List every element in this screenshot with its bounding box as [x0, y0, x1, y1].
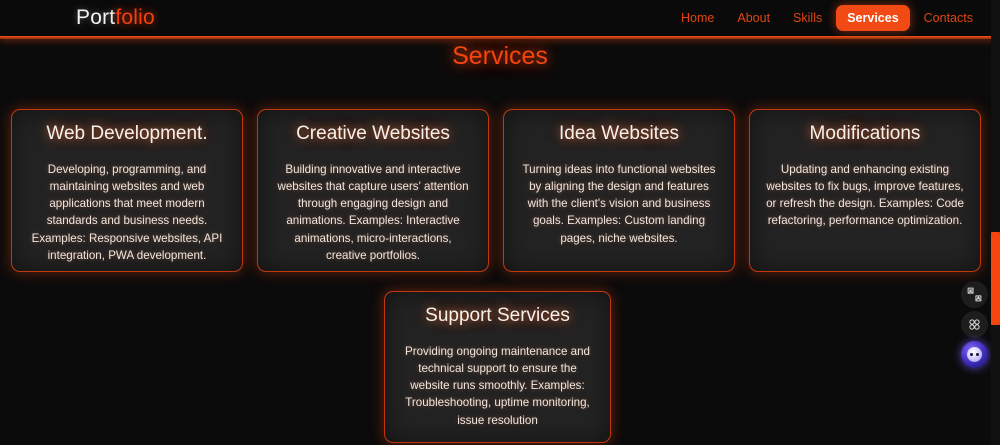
service-card-description: Developing, programming, and maintaining…: [28, 161, 226, 264]
service-card-title: Support Services: [401, 306, 594, 327]
page-scrollbar-thumb[interactable]: [991, 232, 1000, 325]
nav-item-home[interactable]: Home: [672, 6, 723, 30]
apps-grid-button[interactable]: [961, 311, 988, 338]
service-card-description: Building innovative and interactive webs…: [274, 161, 472, 264]
site-logo[interactable]: Portfolio: [76, 6, 155, 30]
service-card-title: Web Development.: [28, 124, 226, 145]
ai-bot-icon: [967, 347, 982, 362]
service-card[interactable]: Modifications Updating and enhancing exi…: [749, 109, 981, 272]
service-card-title: Idea Websites: [520, 124, 718, 145]
service-card-description: Turning ideas into functional websites b…: [520, 161, 718, 247]
service-card-description: Updating and enhancing existing websites…: [766, 161, 964, 230]
service-card-title: Creative Websites: [274, 124, 472, 145]
ai-bot-eye-right: [976, 353, 979, 356]
ai-bot-eye-left: [970, 353, 973, 356]
nav-item-skills[interactable]: Skills: [784, 6, 831, 30]
logo-text-accent: folio: [115, 6, 155, 29]
floating-widget-stack: [961, 281, 991, 368]
services-page: Portfolio Home About Skills Services Con…: [0, 0, 1000, 445]
nav-item-contacts[interactable]: Contacts: [915, 6, 982, 30]
translate-button[interactable]: [961, 281, 988, 308]
apps-grid-icon: [966, 316, 983, 333]
service-card-title: Modifications: [766, 124, 964, 145]
nav-item-services[interactable]: Services: [836, 5, 909, 31]
logo-text-primary: Port: [76, 6, 115, 29]
service-card[interactable]: Creative Websites Building innovative an…: [257, 109, 489, 272]
ai-assistant-button[interactable]: [961, 341, 988, 368]
service-card[interactable]: Idea Websites Turning ideas into functio…: [503, 109, 735, 272]
translate-icon: [966, 286, 983, 303]
main-navigation: Home About Skills Services Contacts: [672, 5, 982, 31]
page-title: Services: [0, 42, 1000, 71]
service-card[interactable]: Web Development. Developing, programming…: [11, 109, 243, 272]
page-scrollbar-track[interactable]: [991, 0, 1000, 445]
nav-item-about[interactable]: About: [728, 6, 779, 30]
service-card-description: Providing ongoing maintenance and techni…: [401, 343, 594, 429]
site-header: Portfolio Home About Skills Services Con…: [0, 0, 1000, 39]
service-card[interactable]: Support Services Providing ongoing maint…: [384, 291, 611, 443]
